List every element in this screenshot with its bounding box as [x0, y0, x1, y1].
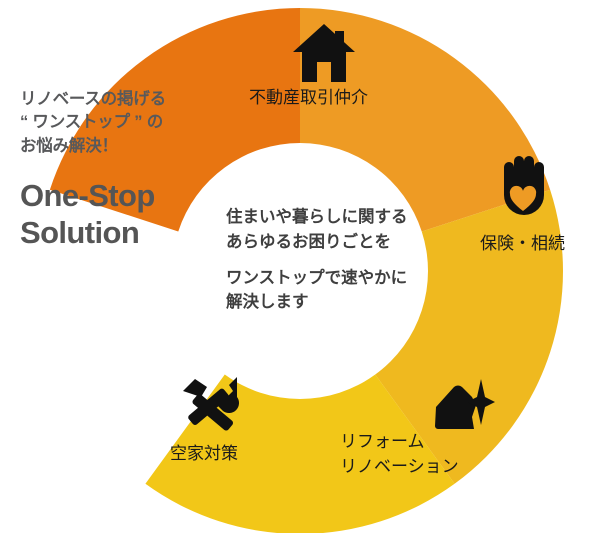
page-title-line-1: One-Stop	[20, 178, 230, 214]
center-line-4: 解決します	[226, 290, 456, 315]
segment-label-insurance: 保険・相続	[480, 232, 565, 257]
infographic-canvas: 不動産取引仲介 保険・相続 リフォーム リノベーション 空家対策 リノベースの掲…	[0, 0, 600, 533]
lead-line-3: お悩み解決！	[20, 135, 230, 158]
hammer-wrench-icon	[177, 373, 249, 440]
page-title-line-2: Solution	[20, 215, 230, 251]
center-line-1: 住まいや暮らしに関する	[226, 205, 456, 230]
hand-heart-icon	[492, 155, 554, 228]
center-copy-spacer	[226, 255, 456, 266]
segment-label-vacant: 空家対策	[170, 442, 238, 467]
left-headline-block: リノベースの掲げる “ ワンストップ ” の お悩み解決！ One-Stop S…	[20, 88, 230, 251]
house-icon	[291, 22, 357, 89]
center-copy-block: 住まいや暮らしに関する あらゆるお困りごとを ワンストップで速やかに 解決します	[226, 205, 456, 315]
center-line-3: ワンストップで速やかに	[226, 266, 456, 291]
lead-line-2: “ ワンストップ ” の	[20, 111, 230, 134]
segment-label-line: 空家対策	[170, 442, 238, 467]
segment-label-line: 保険・相続	[480, 232, 565, 257]
center-line-2: あらゆるお困りごとを	[226, 230, 456, 255]
segment-label-realestate: 不動産取引仲介	[249, 86, 368, 111]
page-title: One-Stop Solution	[20, 178, 230, 251]
segment-label-reform: リフォーム リノベーション	[340, 430, 459, 479]
lead-line-1: リノベースの掲げる	[20, 88, 230, 111]
segment-label-line: リフォーム	[340, 430, 459, 455]
segment-label-line: 不動産取引仲介	[249, 86, 368, 111]
segment-label-line: リノベーション	[340, 455, 459, 480]
